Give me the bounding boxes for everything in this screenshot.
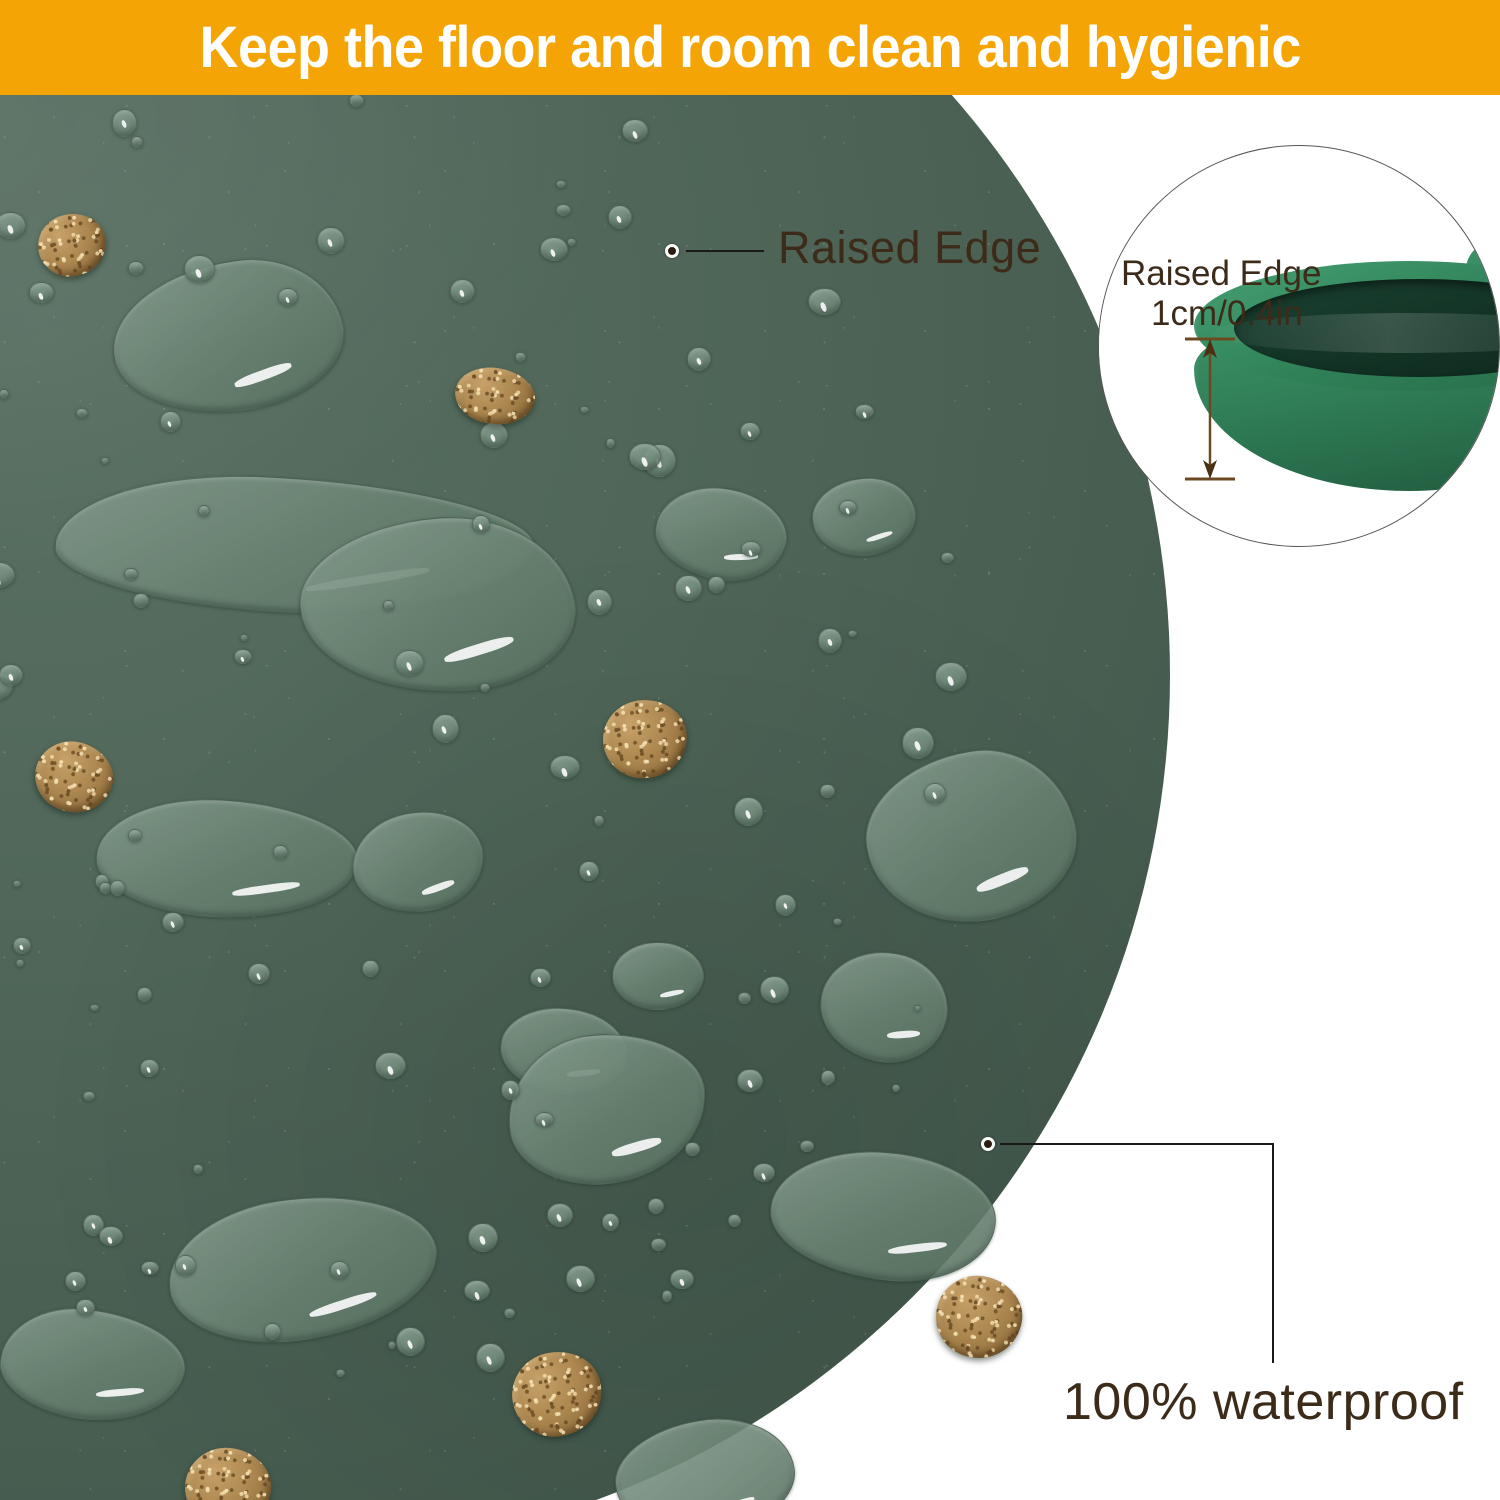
water-droplet — [556, 180, 566, 188]
water-droplet — [530, 968, 550, 987]
water-droplet — [728, 1214, 741, 1227]
water-droplet — [556, 204, 571, 216]
water-droplet — [848, 630, 857, 637]
inset-caption-line-2: 1cm/0.4in — [1151, 294, 1321, 334]
water-droplet — [388, 1341, 396, 1349]
water-droplet — [821, 1070, 834, 1084]
waterproof-label: 100% waterproof — [1063, 1372, 1464, 1432]
height-dimension-arrow — [1177, 334, 1243, 484]
kibble-piece — [930, 1269, 1029, 1365]
water-droplet — [110, 880, 125, 895]
raised-edge-label: Raised Edge — [778, 222, 1041, 274]
water-droplet — [540, 237, 568, 261]
water-droplet — [128, 829, 142, 842]
waterproof-leader-vertical — [1272, 1143, 1274, 1363]
water-droplet — [708, 576, 725, 592]
water-droplet — [515, 352, 525, 362]
water-droplet — [16, 959, 24, 966]
water-droplet — [90, 1004, 99, 1011]
headline-banner: Keep the floor and room clean and hygien… — [0, 0, 1500, 95]
raised-edge-marker-dot — [665, 244, 679, 258]
water-droplet — [820, 784, 835, 797]
water-droplet — [662, 1290, 673, 1301]
water-droplet — [131, 136, 143, 148]
inset-caption: Raised Edge 1cm/0.4in — [1121, 254, 1321, 334]
raised-edge-leader-line — [686, 250, 764, 252]
inset-caption-line-1: Raised Edge — [1121, 254, 1321, 294]
water-droplet — [738, 992, 751, 1004]
product-feature-image: Keep the floor and room clean and hygien… — [0, 0, 1500, 1500]
water-droplet — [480, 683, 490, 693]
raised-edge-detail-inset: Raised Edge 1cm/0.4in — [1098, 145, 1500, 547]
headline-text: Keep the floor and room clean and hygien… — [199, 19, 1300, 77]
water-puddle — [612, 942, 704, 1010]
water-droplet — [101, 457, 108, 464]
water-droplet — [651, 1238, 666, 1250]
water-droplet — [133, 593, 149, 607]
water-droplet — [476, 1343, 505, 1372]
water-droplet — [383, 600, 393, 610]
water-droplet — [184, 255, 215, 283]
waterproof-marker-dot — [981, 1137, 995, 1151]
water-droplet — [0, 389, 9, 399]
water-droplet — [941, 552, 954, 563]
water-droplet — [580, 406, 589, 413]
water-droplet — [128, 261, 144, 275]
water-droplet — [892, 1084, 900, 1092]
water-droplet — [336, 1369, 345, 1377]
waterproof-leader-horizontal — [1000, 1143, 1274, 1145]
water-droplet — [760, 976, 789, 1002]
water-droplet — [566, 1265, 596, 1292]
water-droplet — [685, 1142, 700, 1157]
water-droplet — [567, 238, 576, 246]
